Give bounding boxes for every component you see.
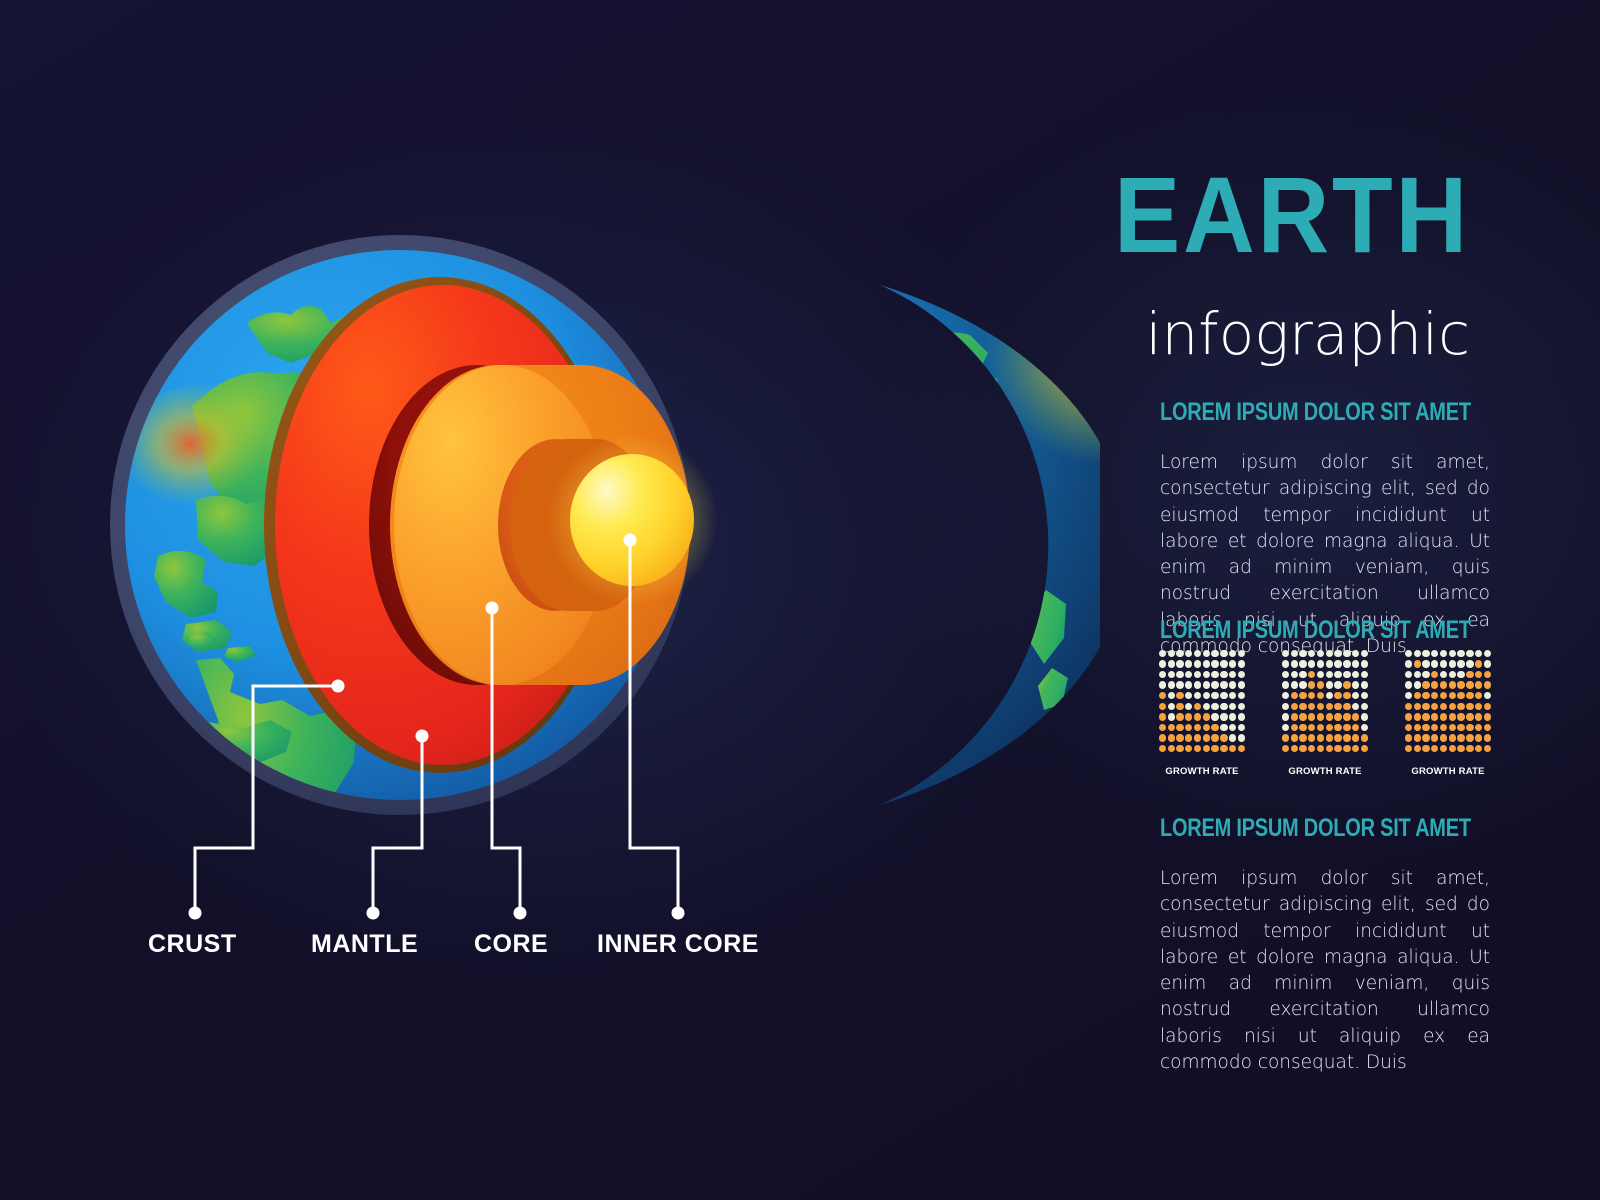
matrix-dot (1414, 734, 1421, 741)
matrix-dot (1352, 671, 1359, 678)
matrix-dot (1211, 681, 1218, 688)
matrix-dot (1282, 681, 1289, 688)
matrix-dot (1211, 745, 1218, 752)
matrix-dot (1168, 671, 1175, 678)
matrix-dot (1194, 681, 1201, 688)
matrix-dot (1229, 745, 1236, 752)
matrix-dot (1308, 734, 1315, 741)
matrix-dot (1440, 650, 1447, 657)
matrix-dot (1317, 692, 1324, 699)
matrix-dot (1361, 724, 1368, 731)
matrix-dot (1457, 692, 1464, 699)
matrix-dot (1326, 724, 1333, 731)
matrix-dot (1299, 681, 1306, 688)
matrix-dot (1176, 734, 1183, 741)
matrix-dot (1475, 692, 1482, 699)
matrix-dot (1317, 724, 1324, 731)
matrix-dot (1457, 650, 1464, 657)
matrix-dot (1414, 660, 1421, 667)
dot-matrix-grid (1158, 648, 1246, 754)
dot-matrix-grid (1281, 648, 1369, 754)
matrix-dot (1159, 713, 1166, 720)
matrix-dot (1203, 692, 1210, 699)
matrix-dot (1422, 734, 1429, 741)
matrix-dot (1308, 724, 1315, 731)
matrix-dot (1343, 671, 1350, 678)
matrix-dot (1326, 671, 1333, 678)
matrix-dot (1334, 734, 1341, 741)
matrix-dot (1317, 671, 1324, 678)
matrix-dot (1168, 681, 1175, 688)
matrix-dot (1211, 724, 1218, 731)
matrix-dot (1405, 671, 1412, 678)
matrix-dot (1211, 650, 1218, 657)
matrix-dot (1220, 650, 1227, 657)
matrix-dot (1484, 650, 1491, 657)
matrix-dot (1229, 724, 1236, 731)
matrix-dot (1475, 745, 1482, 752)
matrix-dot (1229, 734, 1236, 741)
matrix-dot (1361, 681, 1368, 688)
matrix-dot (1475, 650, 1482, 657)
matrix-dot (1220, 692, 1227, 699)
matrix-dot (1185, 650, 1192, 657)
matrix-dot (1431, 724, 1438, 731)
matrix-dot (1352, 703, 1359, 710)
matrix-dot (1440, 745, 1447, 752)
matrix-dot (1334, 660, 1341, 667)
matrix-dot (1291, 650, 1298, 657)
matrix-dot (1449, 734, 1456, 741)
matrix-dot (1220, 734, 1227, 741)
matrix-dot (1238, 745, 1245, 752)
matrix-dot (1475, 703, 1482, 710)
matrix-dot (1308, 660, 1315, 667)
matrix-dot (1475, 681, 1482, 688)
matrix-dot (1194, 650, 1201, 657)
matrix-dot (1343, 650, 1350, 657)
matrix-dot (1475, 671, 1482, 678)
matrix-dot (1238, 713, 1245, 720)
matrix-dot (1466, 713, 1473, 720)
matrix-dot (1466, 650, 1473, 657)
matrix-dot (1466, 745, 1473, 752)
matrix-dot (1449, 650, 1456, 657)
matrix-dot (1361, 734, 1368, 741)
matrix-dot (1361, 703, 1368, 710)
matrix-dot (1220, 713, 1227, 720)
matrix-dot (1326, 734, 1333, 741)
matrix-dot (1168, 650, 1175, 657)
matrix-dot (1185, 660, 1192, 667)
matrix-dot (1299, 703, 1306, 710)
matrix-dot (1168, 713, 1175, 720)
matrix-dot (1194, 734, 1201, 741)
matrix-dot (1326, 650, 1333, 657)
matrix-dot (1238, 671, 1245, 678)
matrix-dot (1361, 745, 1368, 752)
matrix-dot (1299, 724, 1306, 731)
layer-label-mantle: MANTLE (311, 930, 418, 959)
matrix-dot (1229, 681, 1236, 688)
matrix-dot (1176, 703, 1183, 710)
matrix-dot (1203, 724, 1210, 731)
matrix-dot (1440, 681, 1447, 688)
matrix-dot (1449, 660, 1456, 667)
matrix-dot (1405, 745, 1412, 752)
matrix-dot (1466, 703, 1473, 710)
matrix-dot (1211, 703, 1218, 710)
matrix-dot (1229, 660, 1236, 667)
matrix-dot (1343, 681, 1350, 688)
matrix-dot (1405, 681, 1412, 688)
matrix-dot (1431, 650, 1438, 657)
matrix-dot (1220, 745, 1227, 752)
matrix-dot (1159, 681, 1166, 688)
matrix-dot (1176, 660, 1183, 667)
matrix-dot (1185, 745, 1192, 752)
matrix-dot (1299, 734, 1306, 741)
matrix-dot (1238, 650, 1245, 657)
matrix-dot (1361, 713, 1368, 720)
matrix-dot (1168, 745, 1175, 752)
matrix-dot (1484, 703, 1491, 710)
matrix-dot (1211, 734, 1218, 741)
matrix-dot (1203, 745, 1210, 752)
matrix-dot (1484, 692, 1491, 699)
info-panel: EARTH infographic LOREM IPSUM DOLOR SIT … (1140, 0, 1600, 1200)
matrix-dot (1457, 745, 1464, 752)
matrix-dot (1308, 713, 1315, 720)
matrix-dot (1291, 745, 1298, 752)
layer-label-core: CORE (474, 930, 548, 959)
matrix-dot (1352, 660, 1359, 667)
page-title: EARTH (1114, 165, 1470, 264)
matrix-dot (1185, 713, 1192, 720)
matrix-dot (1317, 650, 1324, 657)
matrix-dot (1343, 660, 1350, 667)
matrix-dot (1466, 681, 1473, 688)
matrix-dot (1352, 713, 1359, 720)
matrix-dot (1414, 692, 1421, 699)
matrix-dot (1484, 734, 1491, 741)
matrix-dot (1405, 660, 1412, 667)
matrix-dot (1194, 671, 1201, 678)
section-heading-3: LOREM IPSUM DOLOR SIT AMET (1160, 814, 1471, 843)
matrix-dot (1484, 671, 1491, 678)
matrix-dot (1422, 650, 1429, 657)
matrix-dot (1457, 734, 1464, 741)
matrix-dot (1308, 681, 1315, 688)
matrix-dot (1422, 692, 1429, 699)
matrix-dot (1343, 703, 1350, 710)
matrix-dot (1211, 671, 1218, 678)
matrix-dot (1176, 681, 1183, 688)
matrix-dot (1405, 713, 1412, 720)
matrix-dot (1343, 745, 1350, 752)
matrix-dot (1484, 681, 1491, 688)
matrix-dot (1361, 671, 1368, 678)
matrix-dot (1484, 713, 1491, 720)
matrix-dot (1317, 713, 1324, 720)
layer-label-inner-core: INNER CORE (597, 930, 759, 959)
matrix-dot (1484, 660, 1491, 667)
matrix-dot (1414, 650, 1421, 657)
matrix-dot (1405, 724, 1412, 731)
matrix-dot (1422, 703, 1429, 710)
matrix-dot (1440, 734, 1447, 741)
matrix-dot (1422, 713, 1429, 720)
matrix-dot (1238, 660, 1245, 667)
matrix-dot (1440, 713, 1447, 720)
matrix-dot (1317, 660, 1324, 667)
matrix-dot (1484, 724, 1491, 731)
matrix-dot (1326, 703, 1333, 710)
matrix-dot (1308, 692, 1315, 699)
matrix-dot (1291, 734, 1298, 741)
matrix-dot (1220, 660, 1227, 667)
matrix-dot (1299, 692, 1306, 699)
matrix-dot (1449, 713, 1456, 720)
matrix-dot (1159, 703, 1166, 710)
matrix-dot (1282, 692, 1289, 699)
matrix-dot (1229, 671, 1236, 678)
matrix-dot (1291, 713, 1298, 720)
matrix-dot (1475, 713, 1482, 720)
matrix-dot (1291, 671, 1298, 678)
matrix-dot (1449, 745, 1456, 752)
matrix-dot (1361, 650, 1368, 657)
matrix-dot (1431, 713, 1438, 720)
matrix-dot (1299, 671, 1306, 678)
matrix-dot (1343, 734, 1350, 741)
matrix-dot (1361, 692, 1368, 699)
matrix-dot (1326, 681, 1333, 688)
matrix-dot (1299, 660, 1306, 667)
matrix-dot (1422, 745, 1429, 752)
matrix-dot (1168, 734, 1175, 741)
matrix-dot (1405, 650, 1412, 657)
matrix-dot (1466, 671, 1473, 678)
matrix-dot (1475, 734, 1482, 741)
matrix-dot (1352, 724, 1359, 731)
matrix-dot (1422, 681, 1429, 688)
matrix-dot (1282, 703, 1289, 710)
matrix-dot (1159, 724, 1166, 731)
matrix-dot (1203, 734, 1210, 741)
matrix-dot (1405, 703, 1412, 710)
matrix-dot (1414, 713, 1421, 720)
matrix-dot (1414, 681, 1421, 688)
matrix-dot (1440, 671, 1447, 678)
matrix-dot (1282, 660, 1289, 667)
matrix-dot (1343, 713, 1350, 720)
matrix-dot (1326, 692, 1333, 699)
matrix-dot (1422, 724, 1429, 731)
section-body-3: Lorem ipsum dolor sit amet, consectetur … (1160, 866, 1490, 1076)
matrix-dot (1282, 734, 1289, 741)
matrix-dot (1159, 660, 1166, 667)
matrix-dot (1431, 671, 1438, 678)
matrix-dot (1185, 724, 1192, 731)
matrix-dot (1466, 734, 1473, 741)
matrix-dot (1291, 703, 1298, 710)
matrix-dot (1431, 692, 1438, 699)
earth-cutaway-diagram (0, 0, 1100, 1010)
section-heading-1: LOREM IPSUM DOLOR SIT AMET (1160, 398, 1471, 427)
matrix-dot (1352, 681, 1359, 688)
matrix-dot (1194, 703, 1201, 710)
matrix-dot (1343, 724, 1350, 731)
matrix-dot (1282, 671, 1289, 678)
matrix-dot (1203, 671, 1210, 678)
matrix-dot (1414, 671, 1421, 678)
matrix-dot (1352, 692, 1359, 699)
matrix-dot (1326, 713, 1333, 720)
matrix-dot (1308, 650, 1315, 657)
matrix-dot (1176, 745, 1183, 752)
growth-rate-caption-2: GROWTH RATE (1281, 766, 1369, 777)
matrix-dot (1449, 724, 1456, 731)
dot-matrix-grid (1404, 648, 1492, 754)
matrix-dot (1194, 660, 1201, 667)
matrix-dot (1475, 660, 1482, 667)
matrix-dot (1168, 703, 1175, 710)
matrix-dot (1449, 671, 1456, 678)
matrix-dot (1457, 660, 1464, 667)
matrix-dot (1457, 724, 1464, 731)
matrix-dot (1422, 671, 1429, 678)
matrix-dot (1352, 745, 1359, 752)
matrix-dot (1203, 681, 1210, 688)
matrix-dot (1291, 692, 1298, 699)
matrix-dot (1299, 713, 1306, 720)
matrix-dot (1185, 681, 1192, 688)
matrix-dot (1159, 650, 1166, 657)
growth-rate-chart-2: GROWTH RATE (1281, 648, 1369, 754)
matrix-dot (1203, 713, 1210, 720)
matrix-dot (1334, 650, 1341, 657)
matrix-dot (1431, 703, 1438, 710)
matrix-dot (1291, 724, 1298, 731)
matrix-dot (1334, 713, 1341, 720)
matrix-dot (1440, 703, 1447, 710)
earth-inner-core-layer (546, 434, 718, 606)
matrix-dot (1203, 650, 1210, 657)
matrix-dot (1440, 660, 1447, 667)
matrix-dot (1457, 681, 1464, 688)
matrix-dot (1484, 745, 1491, 752)
matrix-dot (1466, 660, 1473, 667)
matrix-dot (1457, 671, 1464, 678)
matrix-dot (1334, 681, 1341, 688)
matrix-dot (1326, 745, 1333, 752)
matrix-dot (1168, 660, 1175, 667)
matrix-dot (1308, 745, 1315, 752)
matrix-dot (1229, 703, 1236, 710)
matrix-dot (1211, 713, 1218, 720)
matrix-dot (1211, 660, 1218, 667)
matrix-dot (1176, 671, 1183, 678)
matrix-dot (1299, 745, 1306, 752)
matrix-dot (1229, 650, 1236, 657)
matrix-dot (1431, 745, 1438, 752)
matrix-dot (1308, 703, 1315, 710)
matrix-dot (1282, 724, 1289, 731)
matrix-dot (1422, 660, 1429, 667)
matrix-dot (1229, 713, 1236, 720)
matrix-dot (1176, 650, 1183, 657)
matrix-dot (1194, 724, 1201, 731)
matrix-dot (1343, 692, 1350, 699)
matrix-dot (1194, 745, 1201, 752)
matrix-dot (1352, 734, 1359, 741)
layer-label-crust: CRUST (148, 930, 237, 959)
matrix-dot (1185, 671, 1192, 678)
matrix-dot (1220, 681, 1227, 688)
matrix-dot (1475, 724, 1482, 731)
matrix-dot (1238, 724, 1245, 731)
matrix-dot (1159, 671, 1166, 678)
section-heading-2: LOREM IPSUM DOLOR SIT AMET (1160, 616, 1471, 645)
matrix-dot (1220, 671, 1227, 678)
matrix-dot (1168, 724, 1175, 731)
matrix-dot (1194, 713, 1201, 720)
matrix-dot (1176, 692, 1183, 699)
matrix-dot (1431, 734, 1438, 741)
matrix-dot (1282, 650, 1289, 657)
matrix-dot (1326, 660, 1333, 667)
matrix-dot (1308, 671, 1315, 678)
matrix-dot (1449, 681, 1456, 688)
matrix-dot (1352, 650, 1359, 657)
earth-layer-label-row: CRUST MANTLE CORE INNER CORE (0, 930, 800, 980)
matrix-dot (1317, 703, 1324, 710)
matrix-dot (1220, 703, 1227, 710)
matrix-dot (1291, 681, 1298, 688)
matrix-dot (1449, 692, 1456, 699)
matrix-dot (1334, 745, 1341, 752)
growth-rate-chart-group: GROWTH RATE GROWTH RATE GROWTH RATE (1158, 648, 1578, 788)
matrix-dot (1334, 724, 1341, 731)
matrix-dot (1282, 713, 1289, 720)
matrix-dot (1449, 703, 1456, 710)
matrix-dot (1238, 734, 1245, 741)
matrix-dot (1334, 692, 1341, 699)
matrix-dot (1431, 660, 1438, 667)
page-subtitle: infographic (1145, 300, 1470, 368)
growth-rate-chart-3: GROWTH RATE (1404, 648, 1492, 754)
matrix-dot (1414, 703, 1421, 710)
matrix-dot (1211, 692, 1218, 699)
growth-rate-caption-3: GROWTH RATE (1404, 766, 1492, 777)
matrix-dot (1282, 745, 1289, 752)
matrix-dot (1168, 692, 1175, 699)
matrix-dot (1457, 703, 1464, 710)
matrix-dot (1203, 703, 1210, 710)
matrix-dot (1185, 734, 1192, 741)
matrix-dot (1299, 650, 1306, 657)
matrix-dot (1159, 745, 1166, 752)
matrix-dot (1238, 681, 1245, 688)
matrix-dot (1466, 692, 1473, 699)
matrix-dot (1176, 713, 1183, 720)
matrix-dot (1466, 724, 1473, 731)
matrix-dot (1317, 681, 1324, 688)
matrix-dot (1414, 745, 1421, 752)
matrix-dot (1317, 734, 1324, 741)
matrix-dot (1194, 692, 1201, 699)
